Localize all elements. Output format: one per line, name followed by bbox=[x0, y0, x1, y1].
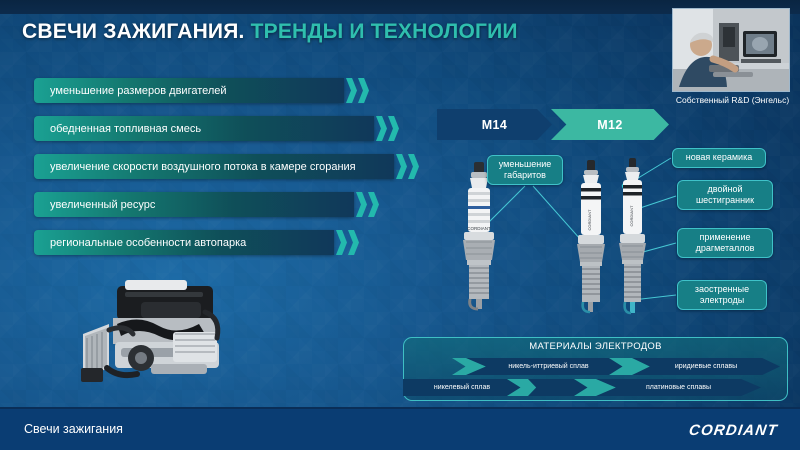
presentation-slide: СВЕЧИ ЗАЖИГАНИЯ. ТРЕНДЫ И ТЕХНОЛОГИИ уме… bbox=[0, 0, 800, 450]
materials-title: МАТЕРИАЛЫ ЭЛЕКТРОДОВ bbox=[404, 341, 787, 352]
svg-text:CORDIANT: CORDIANT bbox=[587, 209, 592, 230]
spark-plug-icon: CORDIANT bbox=[612, 158, 654, 316]
title-secondary: ТРЕНДЫ И ТЕХНОЛОГИИ bbox=[251, 20, 518, 43]
thread-size-m12[interactable]: M12 bbox=[551, 109, 669, 140]
video-caption: Собственный R&D (Энгельс) bbox=[640, 95, 800, 105]
footer-bar: Свечи зажигания CORDIANT bbox=[0, 407, 800, 450]
trend-label-0: уменьшение размеров двигателей bbox=[34, 78, 344, 103]
trends-list: уменьшение размеров двигателей обедненна… bbox=[34, 78, 419, 268]
chevron-pair-4 bbox=[335, 230, 359, 255]
chevron-right-icon bbox=[396, 154, 407, 179]
chevron-pair-2 bbox=[395, 154, 419, 179]
callout-size-reduction[interactable]: уменьшение габаритов bbox=[487, 155, 563, 185]
chevron-right-icon bbox=[408, 154, 419, 179]
chevron-right-icon bbox=[368, 192, 379, 217]
engine-icon bbox=[55, 272, 255, 412]
trend-label-4: региональные особенности автопарка bbox=[34, 230, 334, 255]
trend-label-3: увеличенный ресурс bbox=[34, 192, 354, 217]
material-platinum[interactable]: платиновые сплавы bbox=[596, 379, 761, 396]
svg-text:CORDIANT: CORDIANT bbox=[467, 226, 491, 231]
chevron-right-icon bbox=[356, 192, 367, 217]
material-nickel[interactable]: никелевый сплав bbox=[403, 379, 521, 396]
trend-label-2: увеличение скорости воздушного потока в … bbox=[34, 154, 394, 179]
chevron-right-icon bbox=[388, 116, 399, 141]
trend-item-2[interactable]: увеличение скорости воздушного потока в … bbox=[34, 154, 419, 179]
callout-sharp-electrodes[interactable]: заостренные электроды bbox=[677, 280, 767, 310]
chevron-right-icon bbox=[358, 78, 369, 103]
video-thumbnail-icon[interactable] bbox=[672, 8, 790, 92]
chevron-right-icon bbox=[376, 116, 387, 141]
material-nickel-yttrium[interactable]: никель-иттриевый сплав bbox=[466, 358, 631, 375]
trend-item-0[interactable]: уменьшение размеров двигателей bbox=[34, 78, 419, 103]
page-title: СВЕЧИ ЗАЖИГАНИЯ. ТРЕНДЫ И ТЕХНОЛОГИИ bbox=[22, 20, 518, 44]
thread-size-m14[interactable]: M14 bbox=[437, 109, 552, 140]
trend-label-1: обедненная топливная смесь bbox=[34, 116, 374, 141]
material-iridium[interactable]: иридиевые сплавы bbox=[632, 358, 780, 375]
callout-precious-metals[interactable]: применение драгметаллов bbox=[677, 228, 773, 258]
footer-label: Свечи зажигания bbox=[24, 422, 123, 436]
chevron-pair-3 bbox=[355, 192, 379, 217]
chevron-pair-0 bbox=[345, 78, 369, 103]
spark-plug-icon: CORDIANT bbox=[568, 160, 614, 315]
chevron-right-icon bbox=[346, 78, 357, 103]
title-primary: СВЕЧИ ЗАЖИГАНИЯ. bbox=[22, 20, 245, 43]
trend-item-3[interactable]: увеличенный ресурс bbox=[34, 192, 419, 217]
callout-double-hex[interactable]: двойной шестигранник bbox=[677, 180, 773, 210]
electrode-materials-panel: МАТЕРИАЛЫ ЭЛЕКТРОДОВ никель-иттриевый сп… bbox=[403, 337, 788, 401]
chevron-right-icon bbox=[336, 230, 347, 255]
trend-item-4[interactable]: региональные особенности автопарка bbox=[34, 230, 419, 255]
cordiant-logo: CORDIANT bbox=[688, 422, 779, 439]
thread-size-progression: M14 M12 bbox=[437, 109, 669, 140]
chevron-pair-1 bbox=[375, 116, 399, 141]
callout-new-ceramic[interactable]: новая керамика bbox=[672, 148, 766, 168]
svg-text:CORDIANT: CORDIANT bbox=[629, 205, 634, 226]
trend-item-1[interactable]: обедненная топливная смесь bbox=[34, 116, 419, 141]
chevron-right-icon bbox=[348, 230, 359, 255]
